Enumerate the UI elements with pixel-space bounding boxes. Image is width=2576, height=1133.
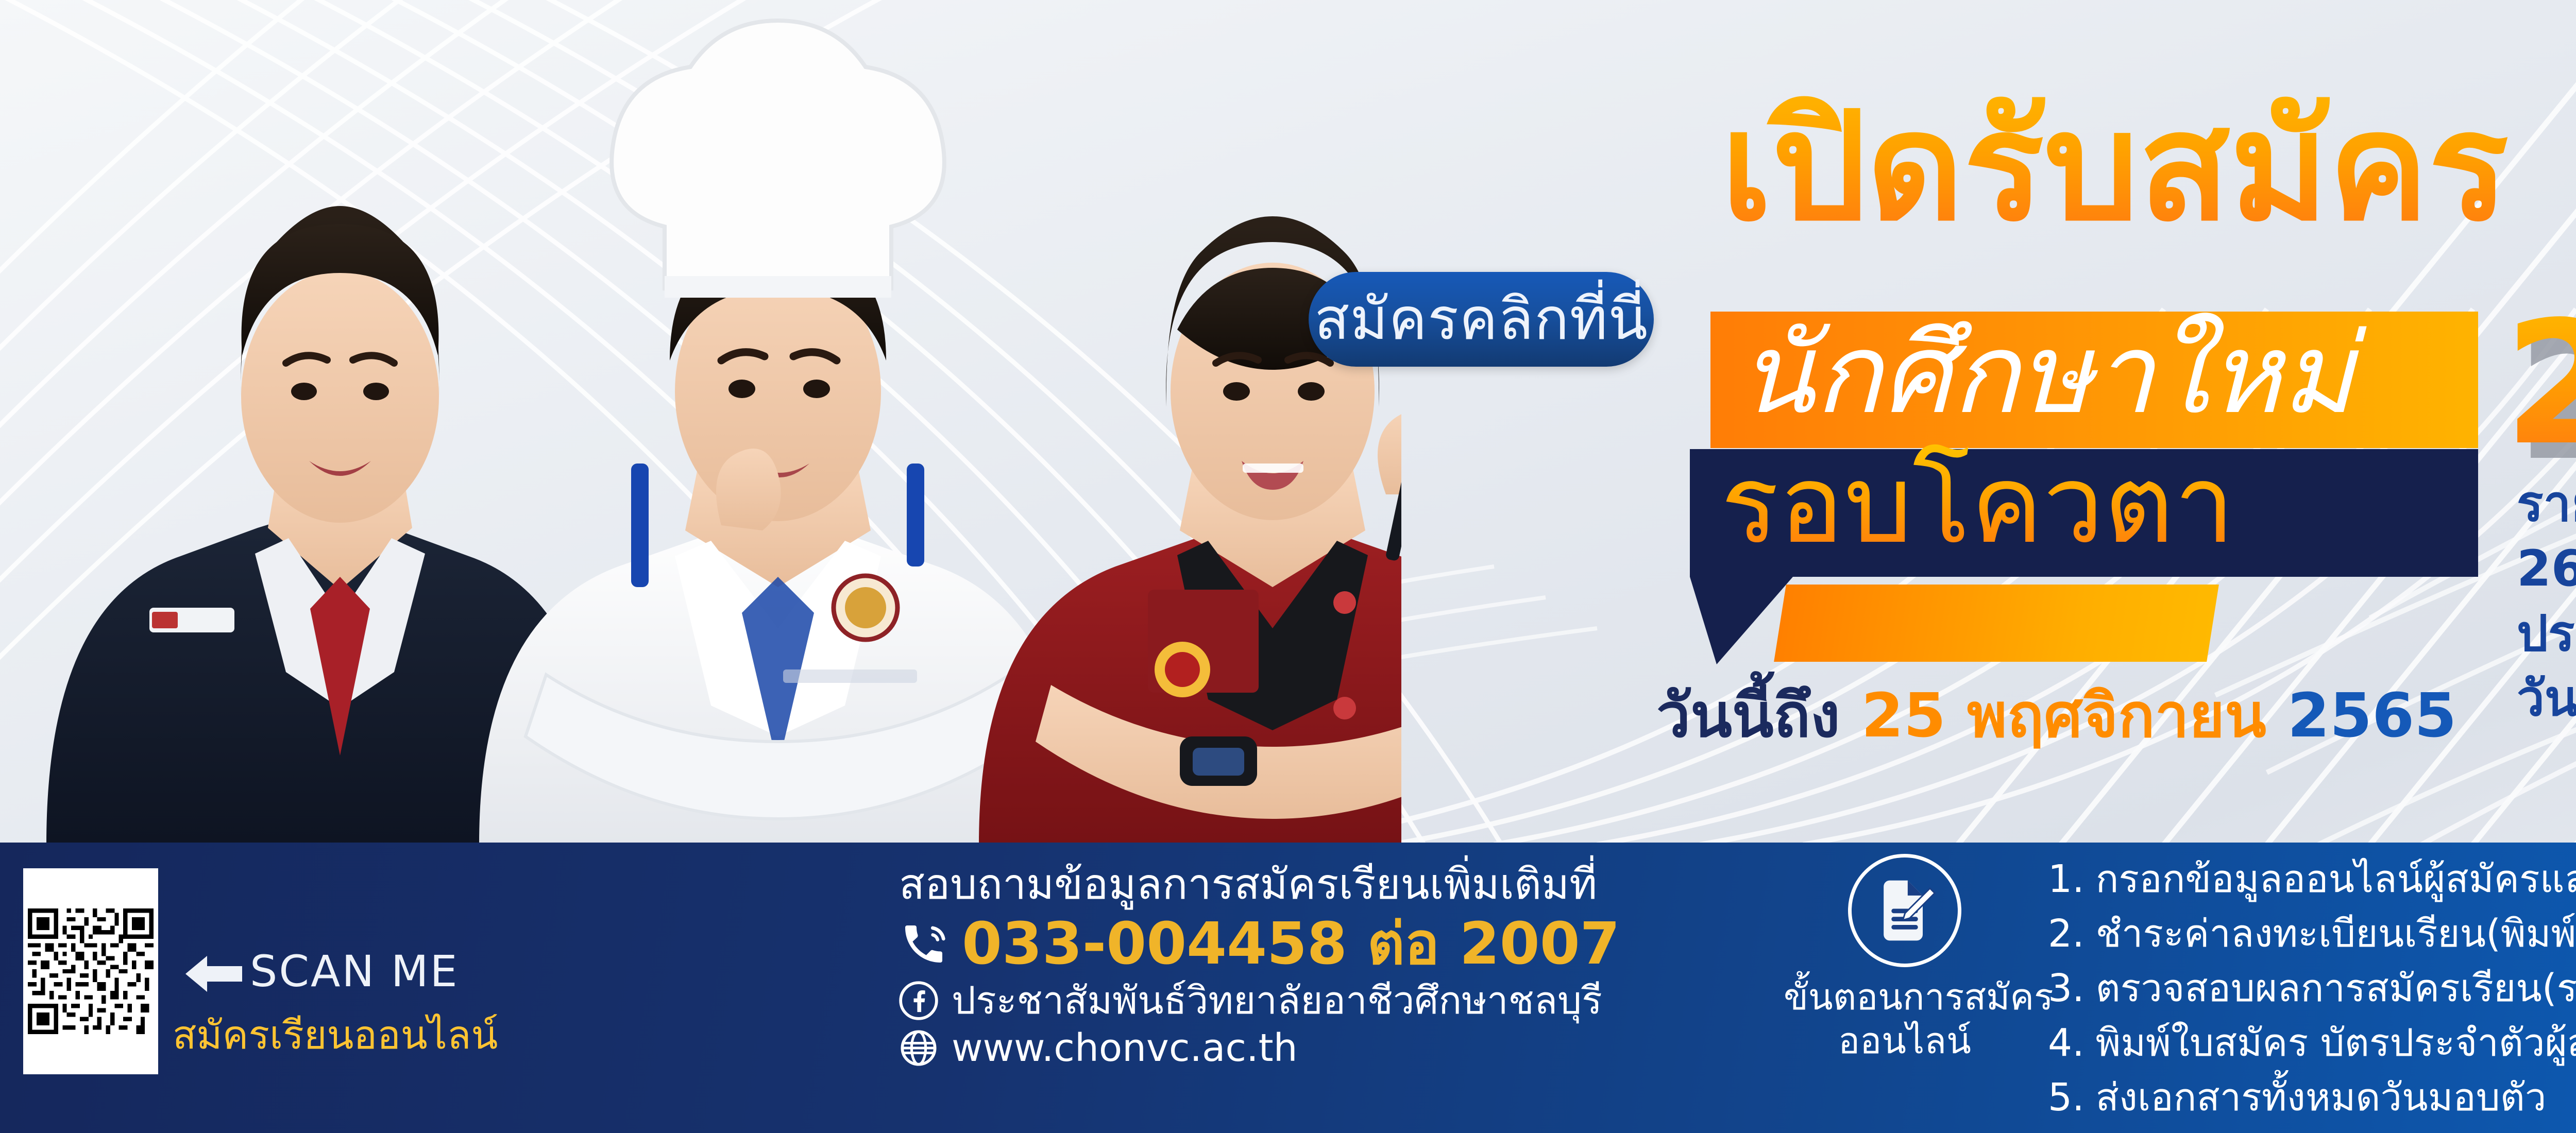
schedule-line-1: รายงานตัว มอบตัว วัดตัวตัดชุด <box>2517 471 2576 536</box>
headline-open-admission: เปิดรับสมัคร <box>1721 93 2509 242</box>
apply-online-label: สมัครเรียนออนไลน์ <box>173 1016 498 1055</box>
scan-me-label: SCAN ME <box>250 950 459 993</box>
list-item: 4. พิมพ์ใบสมัคร บัตรประจำตัวผู้สมัคร ข้อ… <box>2048 1024 2576 1062</box>
headline-band-new-students: นักศึกษาใหม่ <box>1710 312 2478 448</box>
headline-new-students-label: นักศึกษาใหม่ <box>1739 305 2354 442</box>
facebook-icon <box>899 981 938 1020</box>
qr-code-icon[interactable] <box>23 868 158 1074</box>
step-number: 2. <box>2048 915 2084 953</box>
phone-row[interactable]: 033-004458 ต่อ 2007 <box>899 915 1765 973</box>
step-number: 5. <box>2048 1078 2084 1117</box>
qr-block: SCAN ME สมัครเรียนออนไลน์ <box>18 863 698 1110</box>
step-text: กรอกข้อมูลออนไลน์ผู้สมัครและผู้ปกครอง <box>2096 860 2576 898</box>
step-text: ตรวจสอบผลการสมัครเรียน(รอการยืนยัน 2 วัน… <box>2096 969 2576 1007</box>
globe-icon <box>899 1028 938 1068</box>
step-text: ชำระค่าลงทะเบียนเรียน(พิมพ์ในระบบ) <box>2096 915 2576 953</box>
step-number: 3. <box>2048 969 2084 1007</box>
list-item: 5. ส่งเอกสารทั้งหมดวันมอบตัว <box>2048 1078 2576 1117</box>
deadline-year: 2565 <box>2287 680 2456 751</box>
schedule-info-block: รายงานตัว มอบตัว วัดตัวตัดชุด 26-27 พฤศจ… <box>2517 471 2576 731</box>
contact-title: สอบถามข้อมูลการสมัครเรียนเพิ่มเติมที่ <box>899 862 1765 908</box>
contact-block: สอบถามข้อมูลการสมัครเรียนเพิ่มเติมที่ 03… <box>899 862 1765 1068</box>
step-number: 1. <box>2048 860 2084 898</box>
admission-banner: สมัครคลิกที่นี่ เปิดรับสมัคร นักศึกษาใหม… <box>0 0 2576 1133</box>
apply-now-button[interactable]: สมัครคลิกที่นี่ <box>1309 272 1654 367</box>
headline-band-quota-round: รอบโควตา <box>1690 449 2478 577</box>
list-item: 1. กรอกข้อมูลออนไลน์ผู้สมัครและผู้ปกครอง <box>2048 860 2576 898</box>
step-number: 4. <box>2048 1024 2084 1062</box>
list-item: 3. ตรวจสอบผลการสมัครเรียน(รอการยืนยัน 2 … <box>2048 969 2576 1007</box>
arrow-left-icon <box>185 955 242 993</box>
step-text: ส่งเอกสารทั้งหมดวันมอบตัว <box>2096 1078 2547 1117</box>
steps-heading-line-1: ขั้นตอนการสมัคร <box>1784 976 2026 1018</box>
facebook-row[interactable]: ประชาสัมพันธ์วิทยาลัยอาชีวศึกษาชลบุรี <box>899 981 1765 1020</box>
schedule-line-4: วันเสาร์ที่ 6 พฤษภาคม 2566 <box>2517 666 2576 731</box>
document-pencil-icon <box>1848 854 1961 967</box>
students-photo <box>0 0 1401 845</box>
headline-quota-round-label: รอบโควตา <box>1721 441 2235 569</box>
steps-list: 1. กรอกข้อมูลออนไลน์ผู้สมัครและผู้ปกครอง… <box>2048 860 2576 1133</box>
facebook-page-name: ประชาสัมพันธ์วิทยาลัยอาชีวศึกษาชลบุรี <box>952 982 1602 1020</box>
headline-year: 2566 <box>2504 299 2576 469</box>
apply-now-label: สมัครคลิกที่นี่ <box>1314 290 1648 348</box>
list-item: 2. ชำระค่าลงทะเบียนเรียน(พิมพ์ในระบบ) <box>2048 915 2576 953</box>
schedule-line-3: ประชุมผู้ปกครอง <box>2517 601 2576 666</box>
website-row[interactable]: www.chonvc.ac.th <box>899 1028 1765 1068</box>
phone-number: 033-004458 ต่อ 2007 <box>962 915 1620 973</box>
steps-heading-line-2: ออนไลน์ <box>1784 1020 2026 1062</box>
orange-chip-decoration <box>1774 585 2219 662</box>
steps-heading-block: ขั้นตอนการสมัคร ออนไลน์ <box>1784 854 2026 1062</box>
student-chef <box>479 21 1077 845</box>
schedule-line-2: 26-27 พฤศจิกายน 2565 <box>2517 536 2576 601</box>
deadline-date: 25 พฤศจิกายน <box>1861 680 2266 751</box>
phone-icon <box>899 919 948 969</box>
step-text: พิมพ์ใบสมัคร บัตรประจำตัวผู้สมัคร ข้อมูล… <box>2096 1024 2576 1062</box>
deadline-prefix: วันนี้ถึง <box>1656 680 1840 751</box>
application-deadline: วันนี้ถึง 25 พฤศจิกายน 2565 <box>1656 685 2456 746</box>
website-url: www.chonvc.ac.th <box>952 1029 1298 1067</box>
footer-bar: SCAN ME สมัครเรียนออนไลน์ สอบถามข้อมูลกา… <box>0 843 2576 1133</box>
